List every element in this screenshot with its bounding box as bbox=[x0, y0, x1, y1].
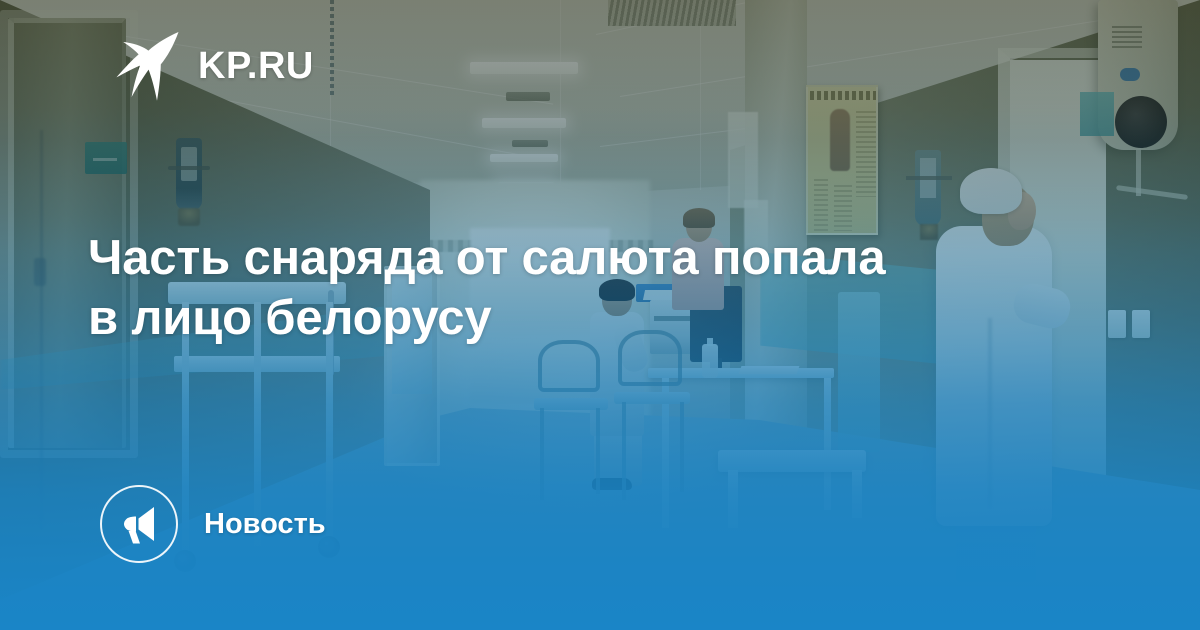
swallow-bird-icon bbox=[110, 30, 180, 102]
brand-name: KP.RU bbox=[198, 47, 314, 85]
badge-label: Новость bbox=[204, 510, 326, 539]
headline-line-2: в лицо белорусу bbox=[88, 289, 1088, 349]
card-content: KP.RU Часть снаряда от салюта попала в л… bbox=[0, 0, 1200, 630]
brand-lockup[interactable]: KP.RU bbox=[110, 30, 314, 102]
status-badge[interactable]: Новость bbox=[100, 485, 326, 563]
headline-line-1: Часть снаряда от салюта попала bbox=[88, 229, 1088, 289]
page-title: Часть снаряда от салюта попала в лицо бе… bbox=[88, 229, 1088, 349]
badge-icon-circle bbox=[100, 485, 178, 563]
megaphone-icon bbox=[118, 503, 160, 545]
social-share-card: KP.RU Часть снаряда от салюта попала в л… bbox=[0, 0, 1200, 630]
